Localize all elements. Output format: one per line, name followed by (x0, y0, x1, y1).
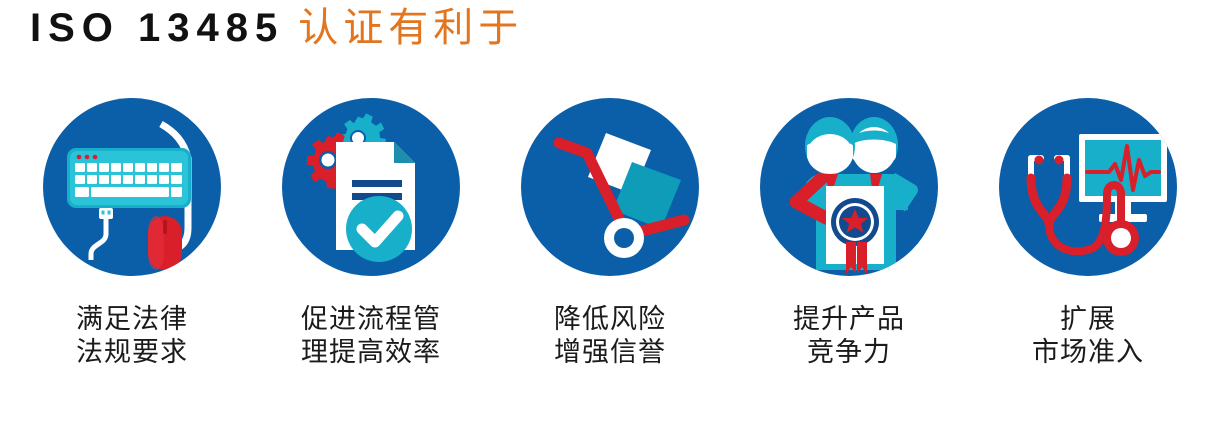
caption-line-2: 竞争力 (793, 337, 905, 370)
benefit-columns: 满足法律 法规要求 (0, 98, 1220, 370)
benefit-icon-3 (521, 98, 699, 276)
benefit-caption-1: 满足法律 法规要求 (76, 304, 188, 370)
caption-line-2: 增强信誉 (554, 337, 666, 370)
benefit-caption-3: 降低风险 增强信誉 (554, 304, 666, 370)
caption-line-1: 满足法律 (76, 304, 188, 337)
caption-line-2: 法规要求 (76, 337, 188, 370)
benefit-phrase: 认证有利于 (298, 5, 523, 51)
caption-line-1: 提升产品 (793, 304, 905, 337)
benefit-column-1: 满足法律 法规要求 (34, 98, 230, 370)
people-certificate-icon (760, 98, 938, 276)
benefit-icon-1 (43, 98, 221, 276)
benefit-icon-4 (760, 98, 938, 276)
keyboard-mouse-icon (43, 98, 221, 276)
benefit-icon-5 (999, 98, 1177, 276)
iso-13485-benefits-infographic: ISO 13485认证有利于 (0, 0, 1220, 446)
caption-line-1: 降低风险 (554, 304, 666, 337)
benefit-column-3: 降低风险 增强信誉 (512, 98, 708, 370)
benefit-caption-5: 扩展 市场准入 (1032, 304, 1144, 370)
rosette-badge (831, 198, 879, 246)
benefit-caption-2: 促进流程管 理提高效率 (301, 304, 441, 370)
document-gears-check-icon (282, 98, 460, 276)
benefit-column-5: 扩展 市场准入 (990, 98, 1186, 370)
benefit-icon-2 (282, 98, 460, 276)
hand-truck-boxes-icon (521, 98, 699, 276)
benefit-column-2: 促进流程管 理提高效率 (273, 98, 469, 370)
caption-line-2: 理提高效率 (301, 337, 441, 370)
standard-name: ISO 13485 (30, 6, 284, 50)
caption-line-2: 市场准入 (1032, 337, 1144, 370)
benefit-column-4: 提升产品 竞争力 (751, 98, 947, 370)
benefit-caption-4: 提升产品 竞争力 (793, 304, 905, 370)
stethoscope-monitor-icon (999, 98, 1177, 276)
page-title: ISO 13485认证有利于 (30, 8, 523, 48)
caption-line-1: 扩展 (1032, 304, 1144, 337)
caption-line-1: 促进流程管 (301, 304, 441, 337)
